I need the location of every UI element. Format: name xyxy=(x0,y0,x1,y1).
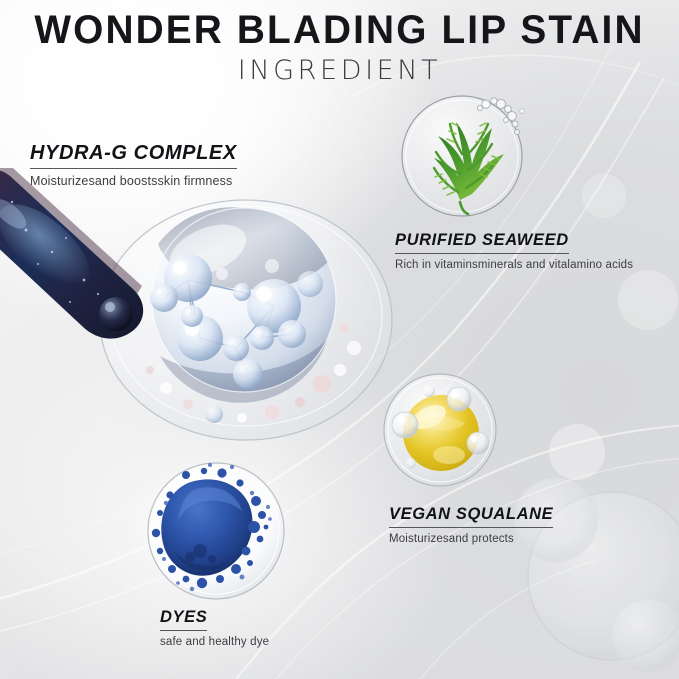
ingredient-name-hydra: HYDRA-G COMPLEX xyxy=(30,142,237,169)
ingredient-name-seaweed: PURIFIED SEAWEED xyxy=(395,231,569,254)
ingredient-description-seaweed: Rich in vitaminsminerals and vitalamino … xyxy=(395,259,633,271)
ingredient-name-dyes: DYES xyxy=(160,608,207,631)
ingredient-label-dyes: DYES safe and healthy dye xyxy=(160,608,269,648)
vegan-squalane-visual xyxy=(381,371,499,489)
page-subtitle: INGREDIENT xyxy=(0,55,679,86)
ingredient-description-dyes: safe and healthy dye xyxy=(160,636,269,648)
ingredient-name-squalane: VEGAN SQUALANE xyxy=(389,505,553,528)
page-title: WONDER BLADING LIP STAIN xyxy=(10,8,669,53)
ingredient-label-purified-seaweed: PURIFIED SEAWEED Rich in vitaminsmineral… xyxy=(395,231,633,271)
ingredient-description-hydra: Moisturizesand boostsskin firmness xyxy=(30,174,237,188)
ingredient-label-vegan-squalane: VEGAN SQUALANE Moisturizesand protects xyxy=(389,505,553,545)
lip-applicator-wand xyxy=(0,168,176,368)
ingredient-label-hydra-g-complex: HYDRA-G COMPLEX Moisturizesand boostsski… xyxy=(30,142,237,188)
ingredient-description-squalane: Moisturizesand protects xyxy=(389,533,553,545)
dyes-visual xyxy=(144,459,288,603)
purified-seaweed-visual xyxy=(398,92,526,220)
ingredient-infographic: WONDER BLADING LIP STAIN INGREDIENT xyxy=(0,0,679,679)
